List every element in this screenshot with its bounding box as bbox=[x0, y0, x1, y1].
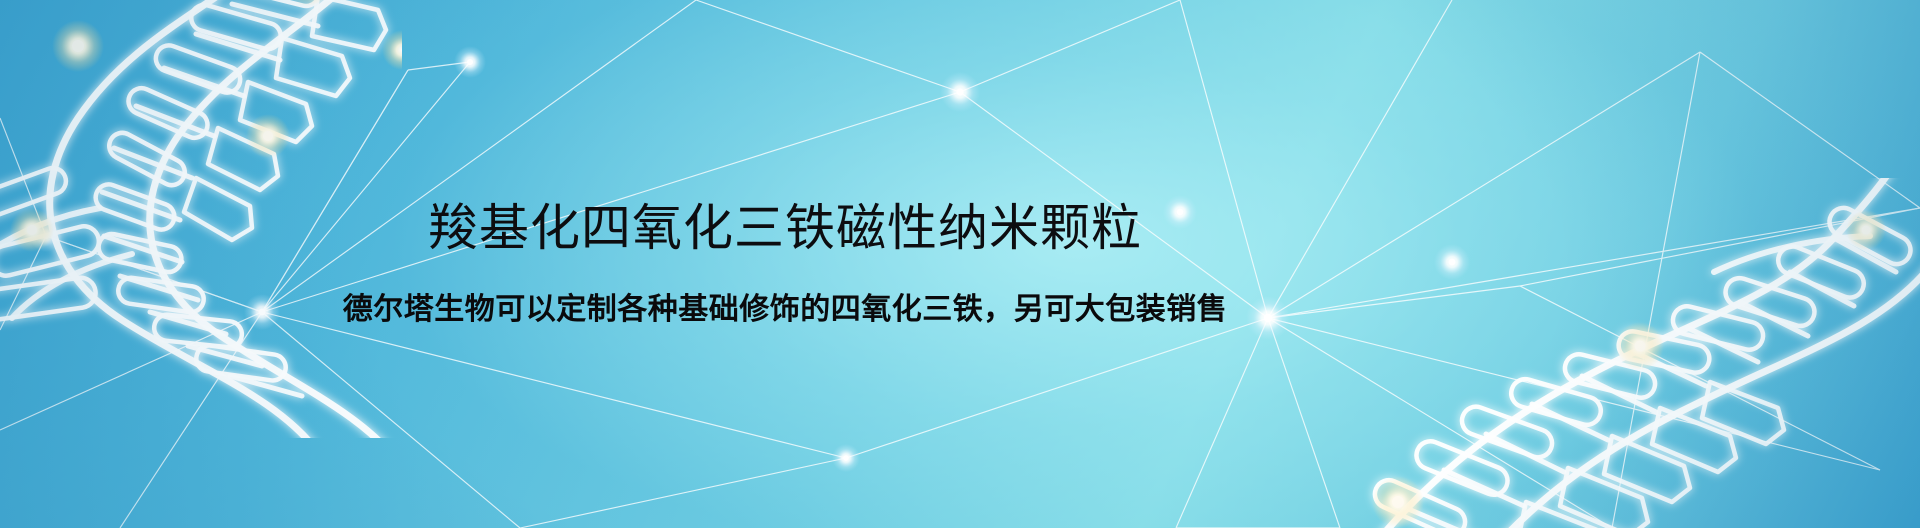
banner-subheadline: 德尔塔生物可以定制各种基础修饰的四氧化三铁，另可大包装销售 bbox=[343, 295, 1228, 325]
banner-text-block: 羧基化四氧化三铁磁性纳米颗粒 德尔塔生物可以定制各种基础修饰的四氧化三铁，另可大… bbox=[0, 0, 1570, 528]
banner-headline: 羧基化四氧化三铁磁性纳米颗粒 bbox=[428, 203, 1142, 253]
hero-banner: 羧基化四氧化三铁磁性纳米颗粒 德尔塔生物可以定制各种基础修饰的四氧化三铁，另可大… bbox=[0, 0, 1920, 528]
